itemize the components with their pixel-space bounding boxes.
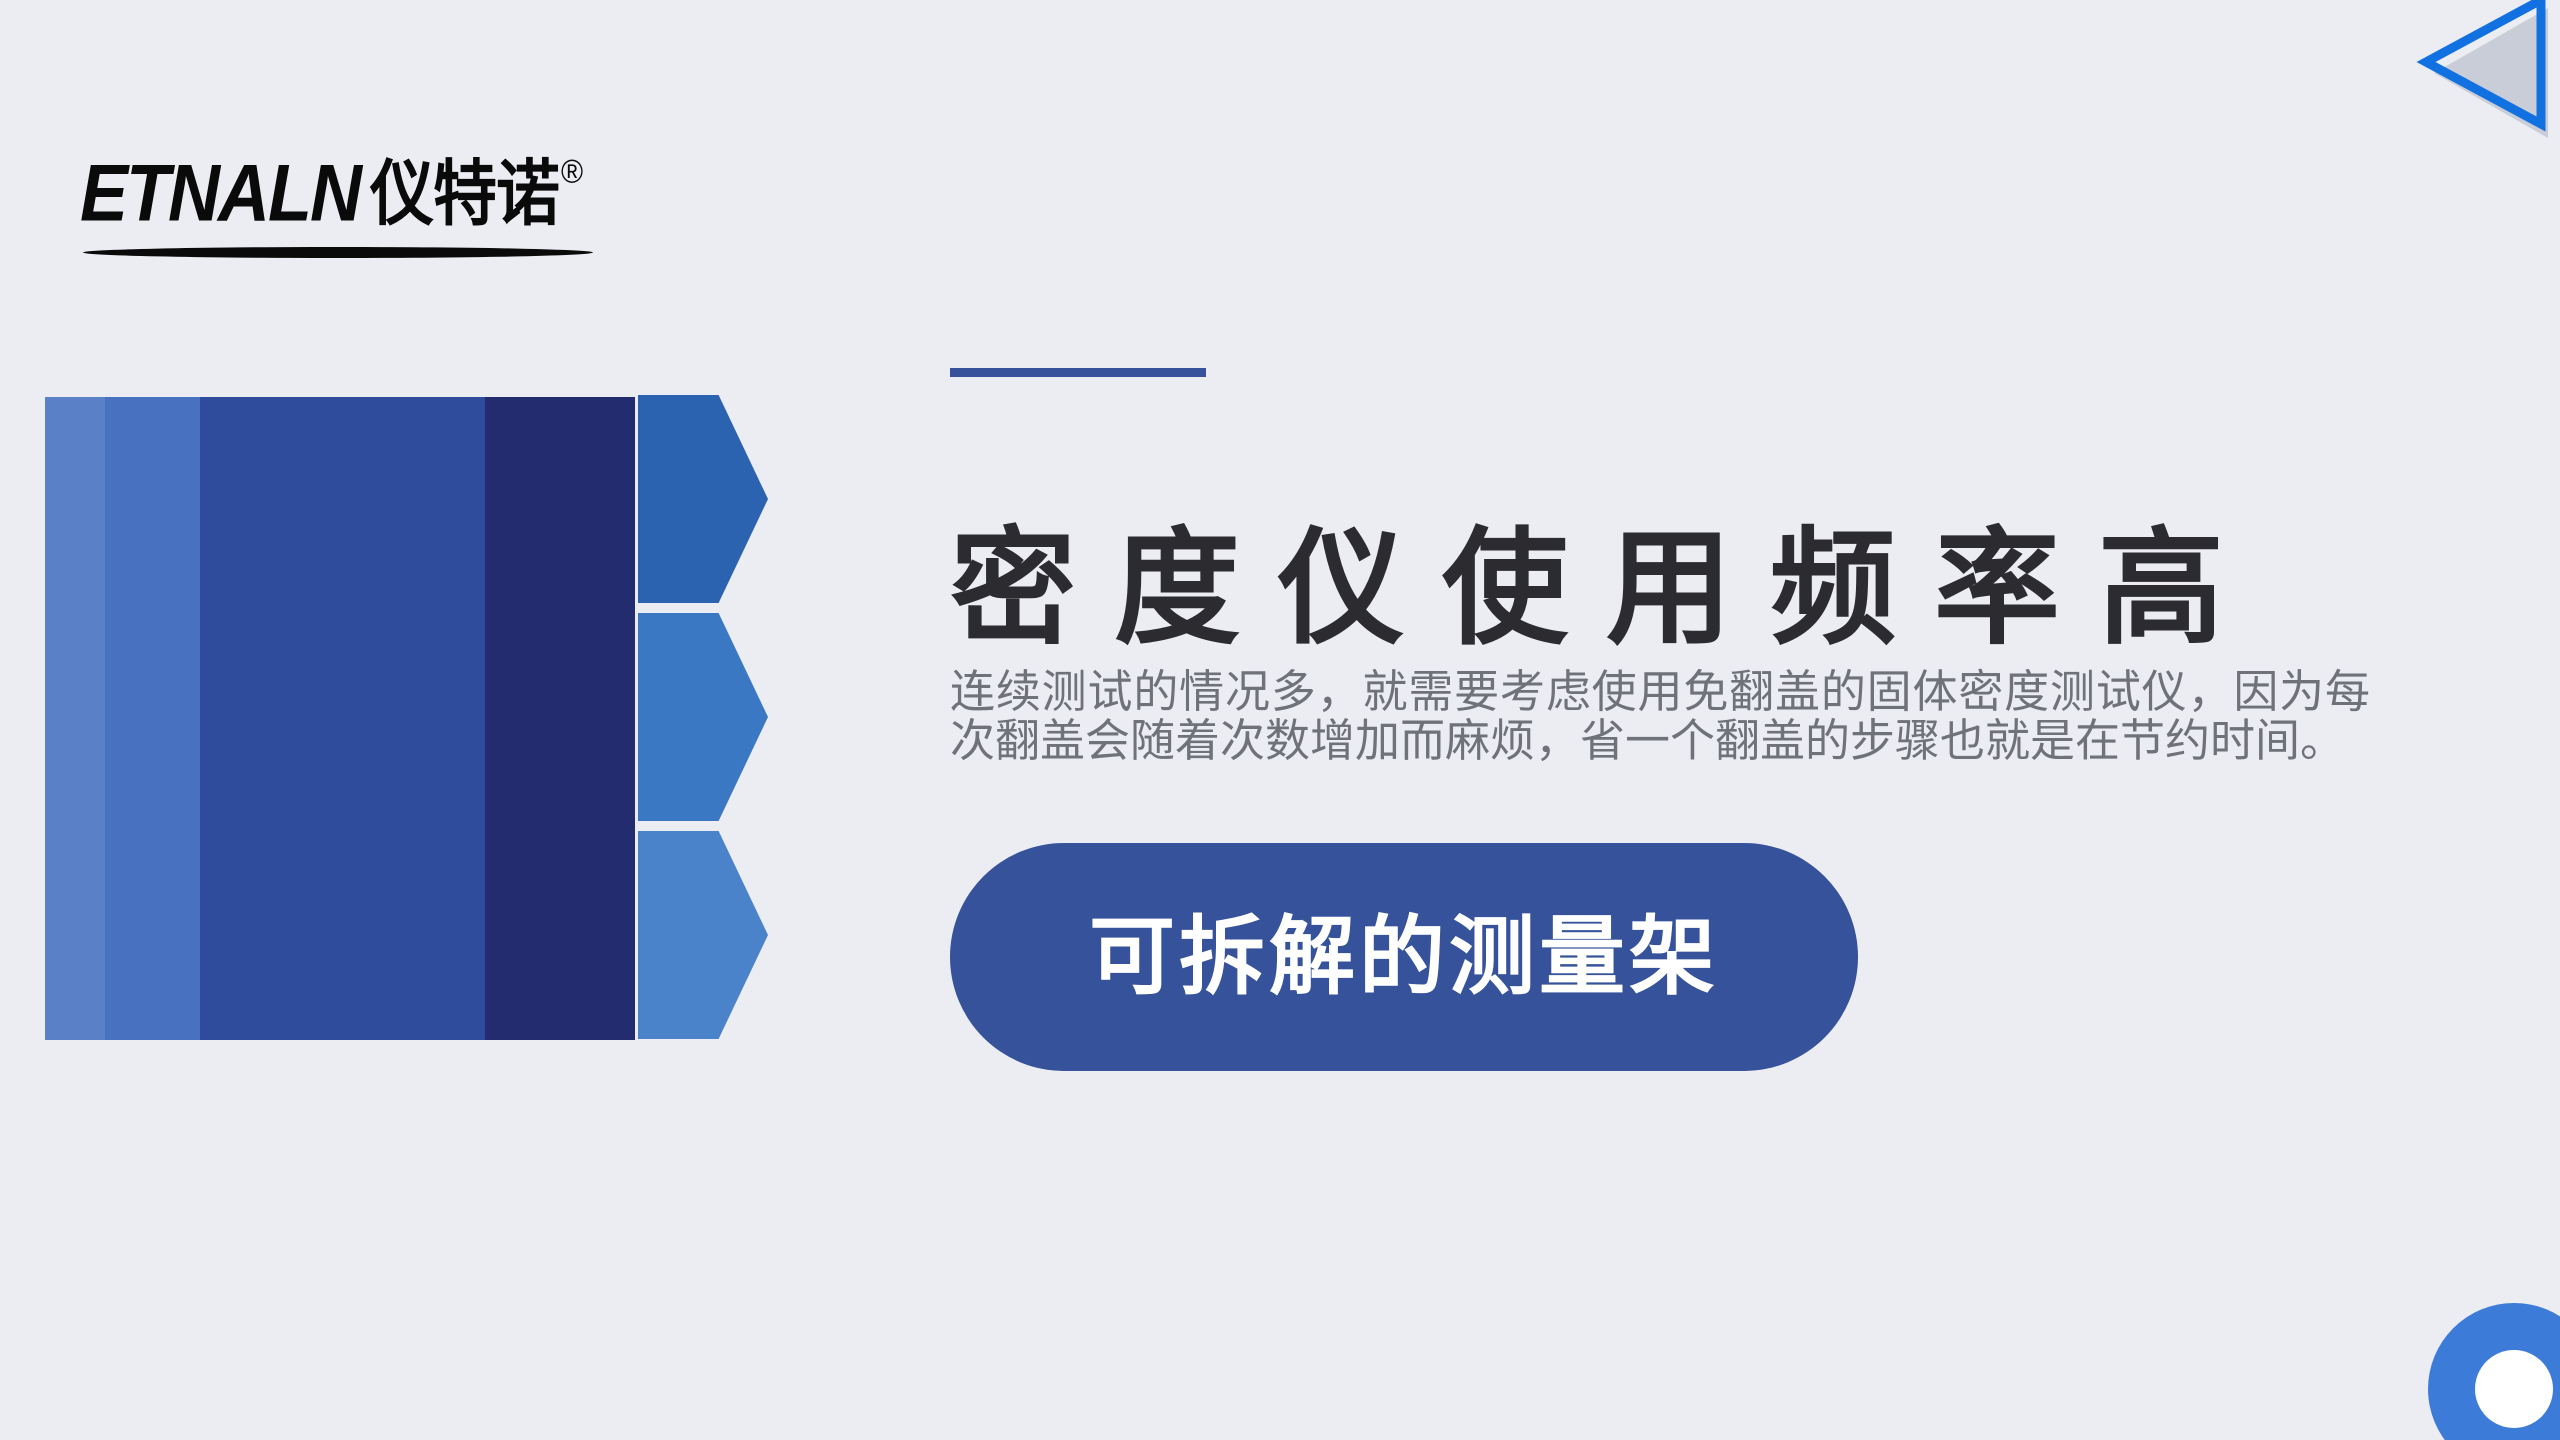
- stripe-darkest: [485, 397, 635, 1040]
- brand-wordmark-chinese: 仪特诺: [370, 153, 559, 234]
- stripe-dark: [200, 397, 485, 1040]
- brand-wordmark-text: ETNALN仪特诺®: [80, 150, 579, 254]
- chevron-top: [638, 395, 768, 603]
- registered-trademark-icon: ®: [561, 153, 581, 190]
- body-paragraph: 连续测试的情况多，就需要考虑使用免翻盖的固体密度测试仪，因为每次翻盖会随着次数增…: [950, 667, 2370, 765]
- brand-logo: ETNALN仪特诺®: [80, 150, 640, 270]
- stripe-light: [45, 397, 105, 1040]
- circle-decor-icon: [2428, 1303, 2560, 1440]
- cta-button[interactable]: 可拆解的测量架: [950, 843, 1858, 1071]
- left-decorative-graphic: [0, 390, 760, 1050]
- chevron-middle: [638, 613, 768, 821]
- accent-bar: [950, 368, 1206, 377]
- circle-decor-center: [2475, 1350, 2553, 1428]
- chevron-bottom: [638, 831, 768, 1039]
- slide-canvas: ETNALN仪特诺® 密度仪使用频率高 连续测试的情况多，就需要考虑使用免翻盖的…: [0, 0, 2560, 1440]
- triangle-decor-icon: [2396, 0, 2560, 142]
- brand-underline-rule: [83, 247, 593, 258]
- brand-wordmark-latin: ETNALN: [80, 149, 360, 239]
- stripe-medium: [105, 397, 200, 1040]
- page-title: 密度仪使用频率高: [950, 514, 2262, 664]
